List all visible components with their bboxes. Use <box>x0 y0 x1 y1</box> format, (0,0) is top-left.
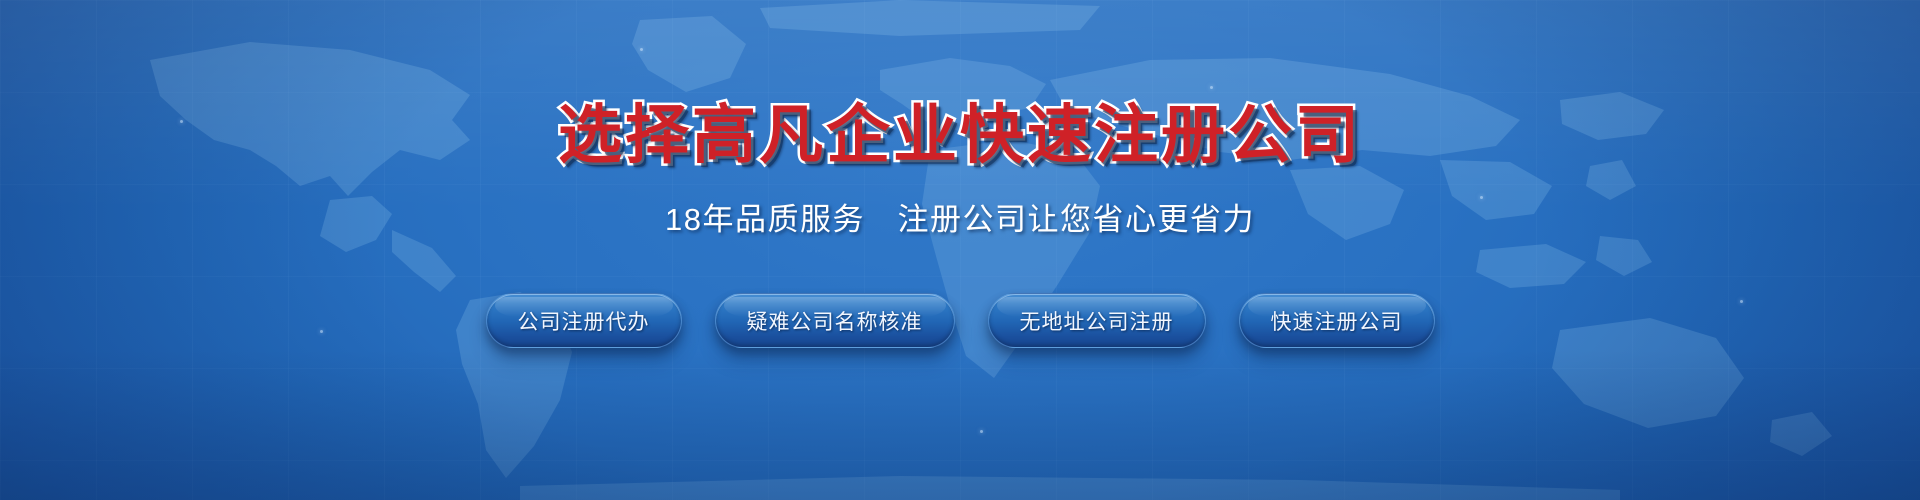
service-button-difficult-name-approval[interactable]: 疑难公司名称核准 <box>715 293 955 348</box>
service-button-no-address-registration[interactable]: 无地址公司注册 <box>988 293 1206 348</box>
banner-content: 选择高凡企业快速注册公司 18年品质服务 注册公司让您省心更省力 公司注册代办 … <box>0 0 1920 500</box>
service-button-row: 公司注册代办 疑难公司名称核准 无地址公司注册 快速注册公司 <box>486 293 1435 348</box>
service-button-company-registration-agency[interactable]: 公司注册代办 <box>486 293 682 348</box>
banner-subtitle: 18年品质服务 注册公司让您省心更省力 <box>665 204 1255 235</box>
hero-banner: 选择高凡企业快速注册公司 18年品质服务 注册公司让您省心更省力 公司注册代办 … <box>0 0 1920 500</box>
page-title: 选择高凡企业快速注册公司 <box>558 104 1362 168</box>
service-button-fast-registration[interactable]: 快速注册公司 <box>1239 293 1435 348</box>
